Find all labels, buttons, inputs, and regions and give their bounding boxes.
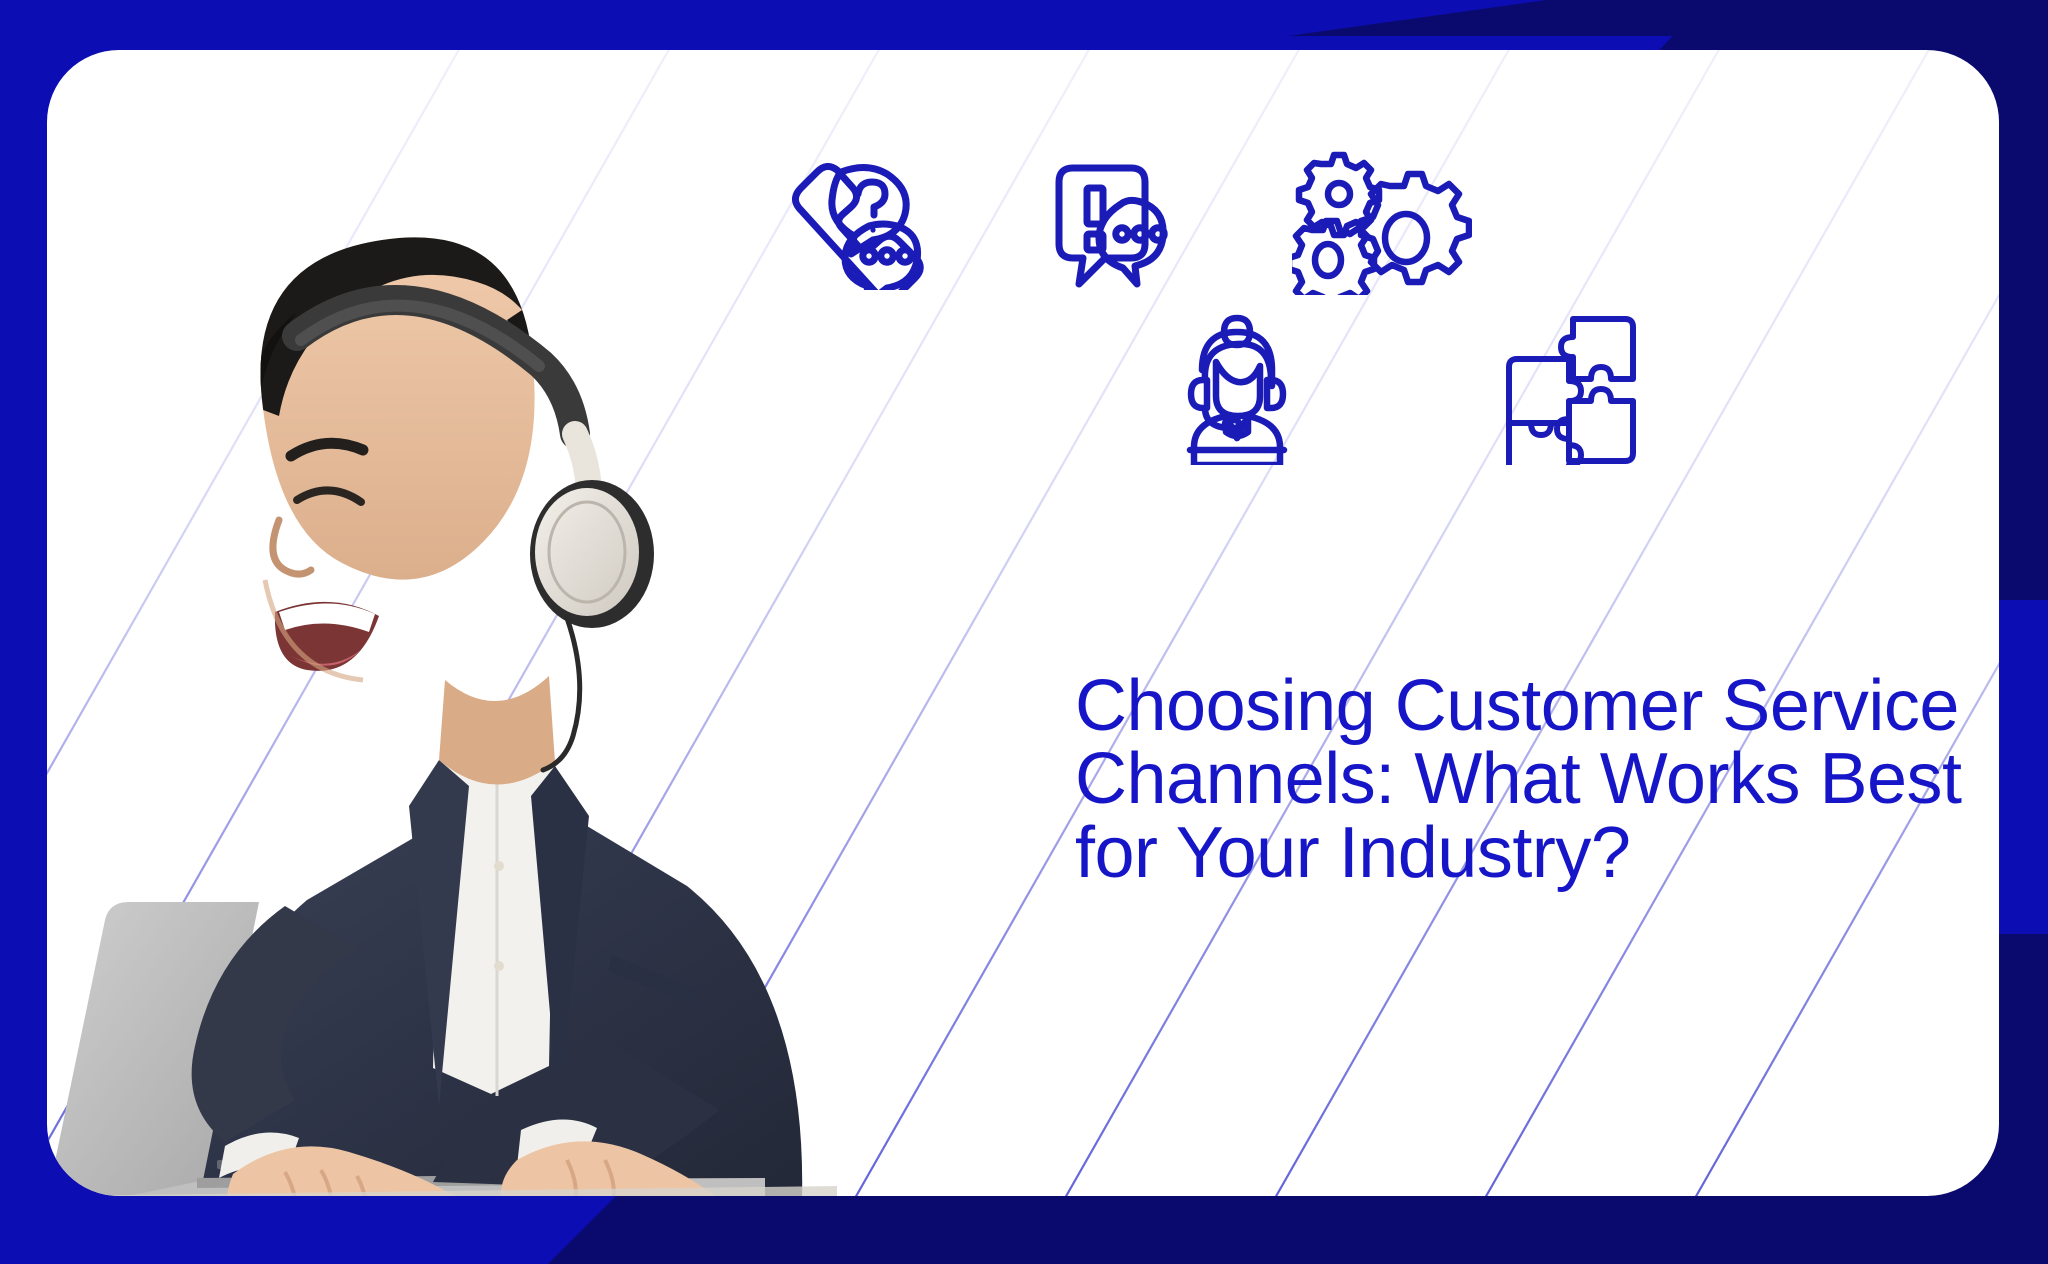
headline-line-3: for Your Industry?	[1075, 817, 1999, 890]
content-card: Choosing Customer Service Channels: What…	[47, 50, 1999, 1196]
support-agent-headset-icon	[1172, 310, 1302, 465]
page-title: Choosing Customer Service Channels: What…	[1075, 670, 1999, 890]
gears-icon	[1292, 150, 1472, 295]
headline-line-1: Choosing Customer Service	[1075, 670, 1999, 743]
headline-line-2: Channels: What Works Best	[1075, 743, 1999, 816]
alert-chat-bubble-icon	[1047, 160, 1202, 290]
banner-root: Choosing Customer Service Channels: What…	[0, 0, 2048, 1264]
puzzle-pieces-icon	[1497, 305, 1647, 465]
frame-wedge-top-right-2	[1288, 0, 2048, 36]
photo-man-with-headset	[47, 160, 837, 1196]
